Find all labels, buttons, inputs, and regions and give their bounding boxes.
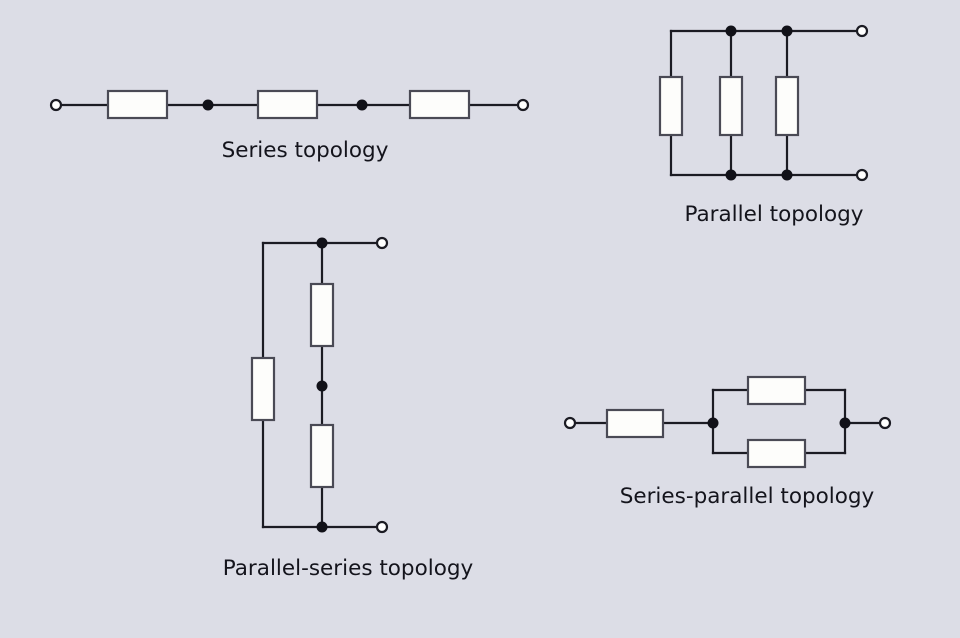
parallel-resistors [660, 77, 798, 135]
resistor-2 [258, 91, 317, 118]
resistor-3 [410, 91, 469, 118]
node-2 [357, 100, 368, 111]
resistor-right-top [311, 284, 333, 346]
node-right-junction [840, 418, 851, 429]
resistor-topologies-figure: Series topology Parallel topology Parall… [0, 0, 960, 638]
node-left-junction [708, 418, 719, 429]
parallel-series-topology-diagram: Parallel-series topology [223, 238, 474, 582]
left-terminal [565, 418, 575, 428]
diagram-canvas: Series topology Parallel topology Parall… [0, 0, 960, 638]
resistor-parallel-top [748, 377, 805, 404]
series-parallel-nodes [708, 418, 851, 429]
parallel-wires [671, 31, 857, 175]
series-topology-diagram: Series topology [51, 91, 528, 163]
node-1 [203, 100, 214, 111]
left-terminal [51, 100, 61, 110]
node-top-3 [782, 26, 793, 37]
resistor-3 [776, 77, 798, 135]
node-bottom [317, 522, 328, 533]
resistor-series [607, 410, 663, 437]
resistor-left [252, 358, 274, 420]
bottom-terminal [857, 170, 867, 180]
parallel-terminals [857, 26, 867, 180]
top-terminal [857, 26, 867, 36]
resistor-1 [108, 91, 167, 118]
resistor-parallel-bottom [748, 440, 805, 467]
top-terminal [377, 238, 387, 248]
parallel-series-topology-label: Parallel-series topology [223, 556, 474, 581]
parallel-topology-diagram: Parallel topology [660, 26, 867, 228]
node-bottom-2 [726, 170, 737, 181]
resistor-2 [720, 77, 742, 135]
node-bottom-3 [782, 170, 793, 181]
right-terminal [880, 418, 890, 428]
node-top [317, 238, 328, 249]
series-topology-label: Series topology [222, 138, 389, 163]
parallel-topology-label: Parallel topology [684, 202, 863, 227]
parallel-series-terminals [377, 238, 387, 532]
resistor-right-bottom [311, 425, 333, 487]
bottom-terminal [377, 522, 387, 532]
series-resistors [108, 91, 469, 118]
node-middle [317, 381, 328, 392]
resistor-1 [660, 77, 682, 135]
series-parallel-topology-label: Series-parallel topology [620, 484, 875, 509]
series-parallel-topology-diagram: Series-parallel topology [565, 377, 890, 509]
node-top-2 [726, 26, 737, 37]
right-terminal [518, 100, 528, 110]
